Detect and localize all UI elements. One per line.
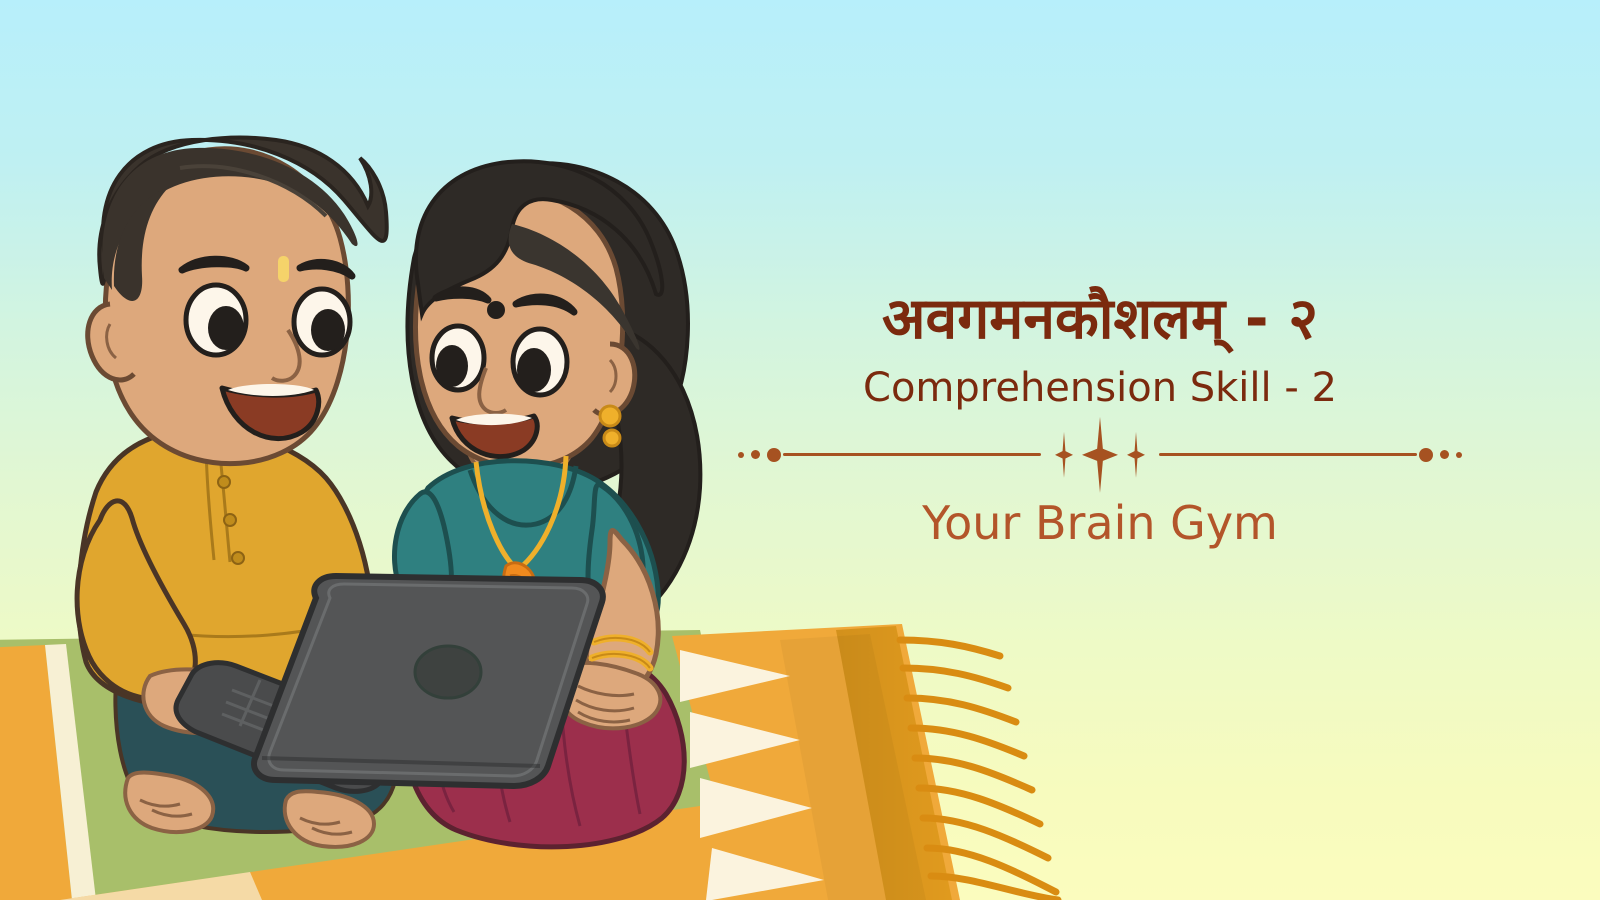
star-large-icon (1082, 417, 1118, 493)
tagline: Your Brain Gym (735, 496, 1465, 551)
text-panel: अवगमनकौशलम् - २ Comprehension Skill - 2 … (735, 288, 1465, 551)
page-title-sanskrit: अवगमनकौशलम् - २ (735, 288, 1465, 352)
star-small-icon (1127, 432, 1145, 478)
divider-rule-right (1159, 453, 1417, 456)
dot-large-icon (767, 448, 781, 462)
dot-medium-icon (1440, 450, 1449, 459)
dot-small-icon (1456, 452, 1462, 458)
divider-star-cluster (1041, 417, 1159, 493)
ornamental-divider (735, 430, 1465, 480)
dot-large-icon (1419, 448, 1433, 462)
poster-canvas: अवगमनकौशलम् - २ Comprehension Skill - 2 … (0, 0, 1600, 900)
divider-rule-left (783, 453, 1041, 456)
dot-small-icon (738, 452, 744, 458)
divider-left-dots (738, 448, 781, 462)
divider-right-dots (1419, 448, 1462, 462)
page-title-english: Comprehension Skill - 2 (735, 364, 1465, 412)
star-small-icon (1055, 432, 1073, 478)
dot-medium-icon (751, 450, 760, 459)
